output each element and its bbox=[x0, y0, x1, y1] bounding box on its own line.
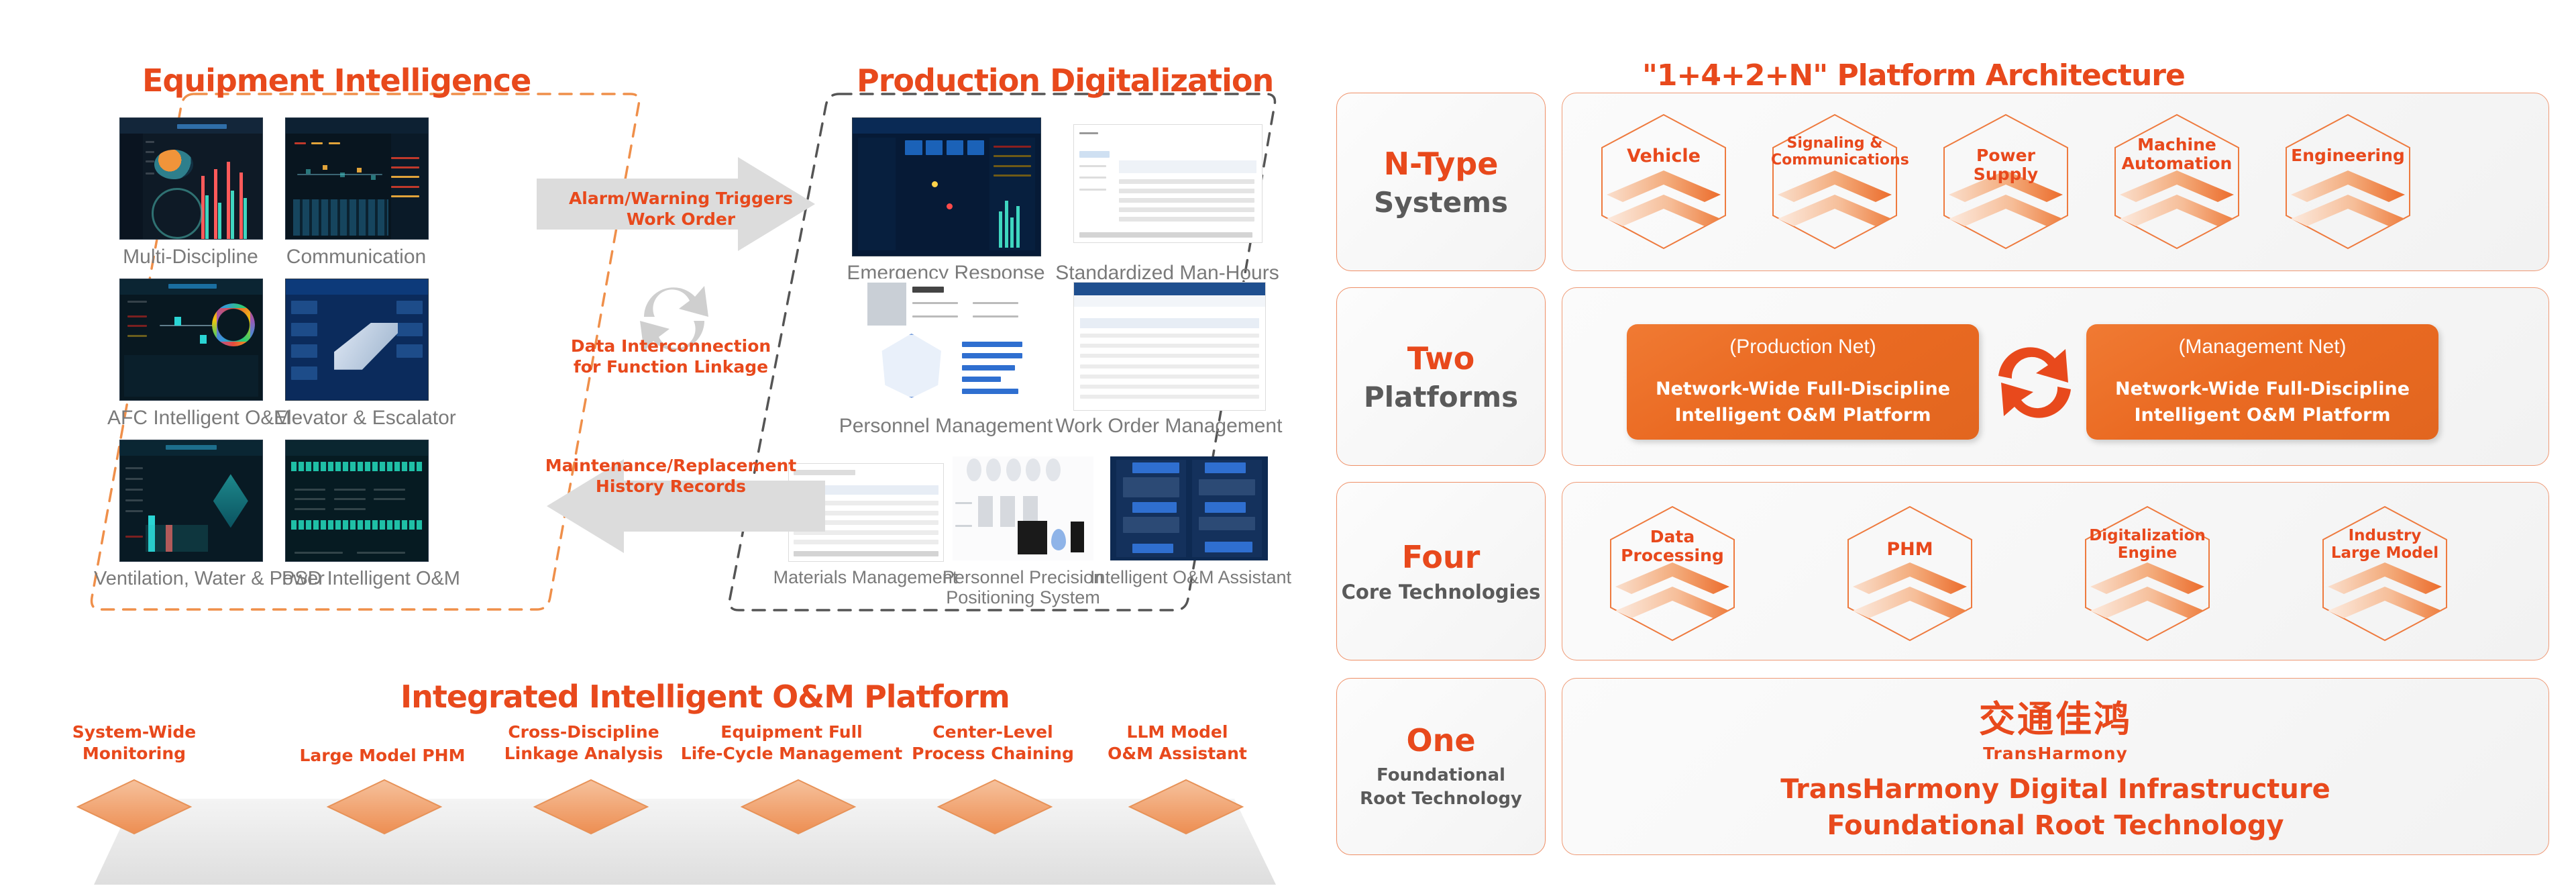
hex-label-line-1: Engineering bbox=[2284, 146, 2412, 165]
row-label-sub: Systems bbox=[1374, 186, 1508, 219]
hex-label-line-1: Digitalization bbox=[2084, 528, 2211, 545]
hex-label-line-2: Automation bbox=[2113, 154, 2241, 173]
thumbnail-personnel-management[interactable] bbox=[859, 279, 1036, 409]
pillar-line-2: Life-Cycle Management bbox=[678, 743, 906, 765]
caption-work-order-management: Work Order Management bbox=[1053, 415, 1285, 438]
hex-label: PHM bbox=[1846, 540, 1974, 560]
thumbnail-standardized-man-hours[interactable] bbox=[1073, 124, 1263, 243]
caption-personnel-precision-positioning: Personnel Precision Positioning System bbox=[939, 567, 1107, 607]
caption-standardized-man-hours: Standardized Man-Hours bbox=[1053, 262, 1281, 285]
hex-item-phm[interactable]: PHM bbox=[1846, 505, 1974, 642]
pillar-line-2: Monitoring bbox=[64, 743, 205, 765]
caption-intelligent-om-assistant: Intelligent O&M Assistant bbox=[1087, 567, 1295, 587]
architecture-title: "1+4+2+N" Platform Architecture bbox=[1642, 58, 2185, 93]
pillar-large-model-phm[interactable]: Large Model PHM bbox=[288, 745, 476, 767]
thumbnail-ventilation-water-power[interactable] bbox=[119, 440, 263, 562]
pillar-line-2: O&M Assistant bbox=[1087, 743, 1268, 765]
hex-label-line-1: Machine bbox=[2113, 136, 2241, 154]
net-card-line-2: Intelligent O&M Platform bbox=[1674, 402, 1931, 428]
hex-item-digitalization-engine[interactable]: Digitalization Engine bbox=[2084, 505, 2211, 642]
pillar-system-wide-monitoring[interactable]: System-Wide Monitoring bbox=[64, 722, 205, 765]
pillar-label: Large Model PHM bbox=[288, 745, 476, 767]
pillar-label: System-Wide Monitoring bbox=[64, 722, 205, 765]
pillar-line-2: Large Model PHM bbox=[288, 745, 476, 767]
hex-item-vehicle[interactable]: Vehicle bbox=[1600, 113, 1727, 250]
row-label-two-platforms: Two Platforms bbox=[1336, 287, 1546, 466]
pillar-llm-model-om-assistant[interactable]: LLM Model O&M Assistant bbox=[1087, 722, 1268, 765]
flow-line-1: Alarm/Warning Triggers bbox=[563, 188, 798, 209]
thumbnail-work-order-management[interactable] bbox=[1073, 282, 1266, 411]
net-card-line-2: Intelligent O&M Platform bbox=[2134, 402, 2390, 428]
hex-label-line-1: Data bbox=[1609, 528, 1736, 546]
pillar-equipment-full-lifecycle[interactable]: Equipment Full Life-Cycle Management bbox=[678, 722, 906, 765]
pillar-line-1: LLM Model bbox=[1087, 722, 1268, 743]
pillar-line-1: Center-Level bbox=[896, 722, 1090, 743]
diamond-icon bbox=[75, 777, 193, 838]
row-label-sub: Foundational Root Technology bbox=[1360, 764, 1522, 811]
net-card-line-1: Network-Wide Full-Discipline bbox=[2115, 376, 2410, 402]
hex-label-line-2: Large Model bbox=[2321, 545, 2449, 562]
infographic-root: Equipment Intelligence Multi-Discipline bbox=[0, 0, 2576, 886]
brand-english: TransHarmony bbox=[1979, 744, 2132, 763]
diamond-icon bbox=[325, 777, 443, 838]
row-label-big: One bbox=[1406, 722, 1475, 758]
hex-label-line-2: Communications bbox=[1771, 152, 1898, 169]
flow-label-alarm: Alarm/Warning Triggers Work Order bbox=[563, 188, 798, 230]
row-label-sub: Core Technologies bbox=[1342, 581, 1541, 603]
pillar-line-1: Cross-Discipline bbox=[493, 722, 674, 743]
thumbnail-elevator-escalator[interactable] bbox=[285, 279, 429, 401]
flow-line-2: for Function Linkage bbox=[557, 356, 785, 377]
hex-item-power-supply[interactable]: Power Supply bbox=[1942, 113, 2070, 250]
flow-line-2: History Records bbox=[533, 476, 808, 497]
hex-label-line-2: Processing bbox=[1609, 546, 1736, 565]
hex-label-line-2: Engine bbox=[2084, 545, 2211, 562]
diamond-icon bbox=[936, 777, 1054, 838]
hex-label-line-1: Industry bbox=[2321, 528, 2449, 545]
brand-logo: 交通佳鸿 TransHarmony bbox=[1979, 689, 2132, 763]
diamond-icon bbox=[532, 777, 650, 838]
pillar-line-1: System-Wide bbox=[64, 722, 205, 743]
platform-base bbox=[94, 799, 1281, 886]
hex-label: Power Supply bbox=[1942, 146, 2070, 184]
thumbnail-personnel-precision-positioning[interactable] bbox=[953, 456, 1093, 560]
net-card-subtitle: (Production Net) bbox=[1729, 336, 1876, 358]
hex-label: Vehicle bbox=[1600, 146, 1727, 166]
net-card-subtitle: (Management Net) bbox=[2178, 336, 2346, 358]
hex-label: Data Processing bbox=[1609, 528, 1736, 565]
pillar-label: Cross-Discipline Linkage Analysis bbox=[493, 722, 674, 765]
net-card-management[interactable]: (Management Net) Network-Wide Full-Disci… bbox=[2086, 324, 2438, 440]
hex-label-line-1: Power Supply bbox=[1942, 146, 2070, 184]
row-label-sub: Platforms bbox=[1364, 381, 1518, 413]
brand-line-2: Foundational Root Technology bbox=[1827, 807, 2284, 844]
equipment-intelligence-title: Equipment Intelligence bbox=[142, 62, 531, 99]
diamond-icon bbox=[739, 777, 857, 838]
caption-personnel-management: Personnel Management bbox=[839, 415, 1053, 438]
thumbnail-multi-discipline[interactable] bbox=[119, 117, 263, 240]
diamond-icon bbox=[1127, 777, 1245, 838]
row-label-one-foundational: One Foundational Root Technology bbox=[1336, 678, 1546, 855]
caption-line-1: Personnel Precision Positioning System bbox=[943, 567, 1104, 607]
hex-label: Digitalization Engine bbox=[2084, 528, 2211, 562]
hex-item-industry-large-model[interactable]: Industry Large Model bbox=[2321, 505, 2449, 642]
caption-afc-intelligent-om: AFC Intelligent O&M bbox=[107, 407, 275, 430]
thumbnail-emergency-response[interactable] bbox=[852, 117, 1041, 256]
caption-elevator-escalator: Elevator & Escalator bbox=[274, 407, 441, 430]
caption-communication: Communication bbox=[285, 246, 427, 268]
row-label-big: Four bbox=[1402, 539, 1481, 575]
pillar-label: LLM Model O&M Assistant bbox=[1087, 722, 1268, 765]
flow-line-1: Maintenance/Replacement bbox=[533, 455, 808, 476]
caption-ventilation-water-power: Ventilation, Water & Power bbox=[94, 568, 288, 589]
pillar-label: Equipment Full Life-Cycle Management bbox=[678, 722, 906, 765]
flow-label-data-interconnection: Data Interconnection for Function Linkag… bbox=[557, 336, 785, 378]
thumbnail-communication[interactable] bbox=[285, 117, 429, 240]
production-digitalization-title: Production Digitalization bbox=[857, 62, 1273, 99]
row-label-four-core-technologies: Four Core Technologies bbox=[1336, 482, 1546, 660]
flow-label-maintenance: Maintenance/Replacement History Records bbox=[533, 455, 808, 497]
swap-arrows-icon bbox=[1988, 336, 2082, 430]
hex-item-signaling-communications[interactable]: Signaling & Communications bbox=[1771, 113, 1898, 250]
row-label-big: N-Type bbox=[1384, 146, 1499, 182]
caption-multi-discipline: Multi-Discipline bbox=[119, 246, 262, 268]
hex-item-engineering[interactable]: Engineering bbox=[2284, 113, 2412, 250]
hex-label-line-1: Signaling & bbox=[1771, 136, 1898, 152]
integrated-platform-title: Integrated Intelligent O&M Platform bbox=[400, 679, 1010, 715]
row-content-one-foundational: 交通佳鸿 TransHarmony TransHarmony Digital I… bbox=[1562, 678, 2549, 855]
pillar-line-1: Equipment Full bbox=[678, 722, 906, 743]
hex-label: Engineering bbox=[2284, 146, 2412, 165]
pillar-line-2: Linkage Analysis bbox=[493, 743, 674, 765]
flow-line-2: Work Order bbox=[563, 209, 798, 230]
hex-label: Signaling & Communications bbox=[1771, 136, 1898, 168]
hex-item-machine-automation[interactable]: Machine Automation bbox=[2113, 113, 2241, 250]
caption-psd-intelligent-om: PSD Intelligent O&M bbox=[282, 568, 433, 589]
net-card-line-1: Network-Wide Full-Discipline bbox=[1656, 376, 1950, 402]
hex-label: Machine Automation bbox=[2113, 136, 2241, 173]
hex-label-line-1: Vehicle bbox=[1600, 146, 1727, 166]
pillar-label: Center-Level Process Chaining bbox=[896, 722, 1090, 765]
net-card-production[interactable]: (Production Net) Network-Wide Full-Disci… bbox=[1627, 324, 1979, 440]
flow-line-1: Data Interconnection bbox=[557, 336, 785, 356]
hex-item-data-processing[interactable]: Data Processing bbox=[1609, 505, 1736, 642]
pillar-center-level-process-chaining[interactable]: Center-Level Process Chaining bbox=[896, 722, 1090, 765]
brand-line-1: TransHarmony Digital Infrastructure bbox=[1780, 771, 2330, 807]
row-label-n-type: N-Type Systems bbox=[1336, 93, 1546, 271]
thumbnail-psd-intelligent-om[interactable] bbox=[285, 440, 429, 562]
thumbnail-afc-intelligent-om[interactable] bbox=[119, 279, 263, 401]
row-label-big: Two bbox=[1407, 340, 1474, 377]
hex-label: Industry Large Model bbox=[2321, 528, 2449, 562]
pillar-cross-discipline-linkage[interactable]: Cross-Discipline Linkage Analysis bbox=[493, 722, 674, 765]
thumbnail-intelligent-om-assistant[interactable] bbox=[1110, 456, 1268, 560]
pillar-line-2: Process Chaining bbox=[896, 743, 1090, 765]
hex-label-line-1: PHM bbox=[1846, 540, 1974, 560]
brand-chinese: 交通佳鸿 bbox=[1979, 689, 2132, 742]
